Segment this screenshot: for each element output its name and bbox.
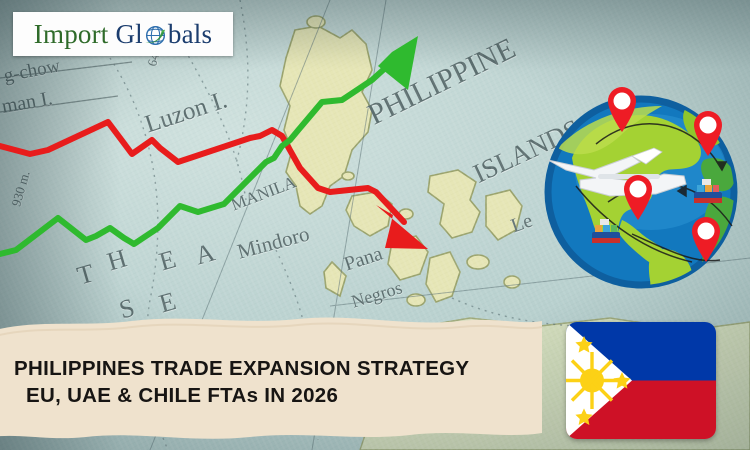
headline-line-1: PHILIPPINES TRADE EXPANSION STRATEGY <box>14 355 534 382</box>
philippines-flag <box>566 322 716 439</box>
logo-word-bals: bals <box>168 19 212 50</box>
logo-word-import: Import <box>34 19 109 50</box>
logo-wordmark: Import Gl bals <box>34 19 212 50</box>
trade-banner: g-chowman I.640 m.930 m.Luzon I.PHILIPPI… <box>0 0 750 450</box>
logo-word-gl: Gl <box>115 19 142 50</box>
headline-line-2: EU, UAE & CHILE FTAs IN 2026 <box>26 382 534 409</box>
globe-icon <box>144 23 167 46</box>
import-globals-logo[interactable]: Import Gl bals <box>13 12 233 56</box>
world-globe-logistics <box>536 74 746 289</box>
headline-block: PHILIPPINES TRADE EXPANSION STRATEGY EU,… <box>14 355 534 409</box>
rising-trend-arrowhead <box>378 36 418 90</box>
falling-trend-arrowhead <box>376 205 428 249</box>
falling-trend-line <box>0 122 404 222</box>
